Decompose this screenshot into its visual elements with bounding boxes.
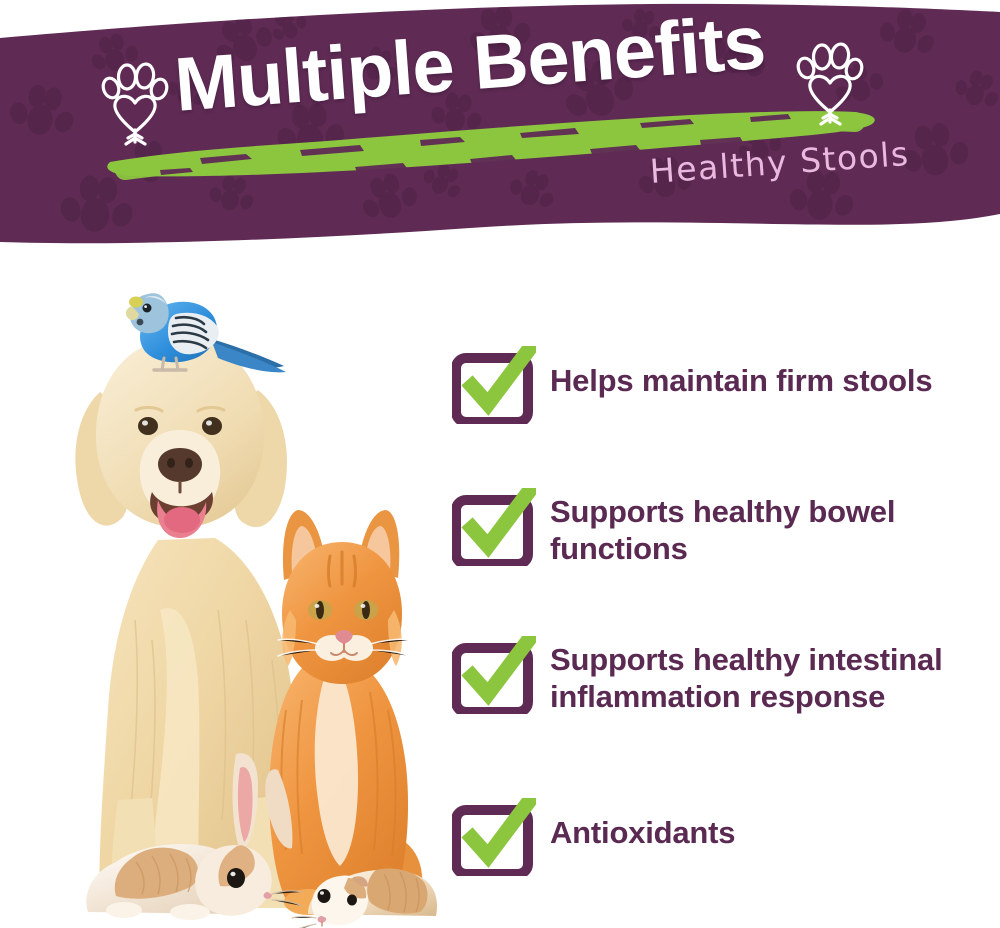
benefit-label: Supports healthy intestinal inflammation… <box>550 636 992 715</box>
header-banner: Multiple Benefits Healthy Stools <box>0 0 1000 260</box>
golden-retriever-dog <box>75 338 297 908</box>
checkbox-checked-icon <box>452 636 536 714</box>
benefit-label: Antioxidants <box>550 798 735 851</box>
pets-photo-group <box>40 280 440 928</box>
benefit-label: Supports healthy bowel functions <box>550 488 992 567</box>
checkbox-checked-icon <box>452 798 536 876</box>
product-benefits-poster: Multiple Benefits Healthy Stools <box>0 0 1000 928</box>
benefit-item: Antioxidants <box>452 798 735 876</box>
checkbox-checked-icon <box>452 346 536 424</box>
benefit-item: Helps maintain firm stools <box>452 346 932 424</box>
checkbox-checked-icon <box>452 488 536 566</box>
benefit-item: Supports healthy bowel functions <box>452 488 992 567</box>
orange-tabby-cat <box>269 510 412 915</box>
benefit-item: Supports healthy intestinal inflammation… <box>452 636 992 715</box>
benefit-label: Helps maintain firm stools <box>550 346 932 399</box>
